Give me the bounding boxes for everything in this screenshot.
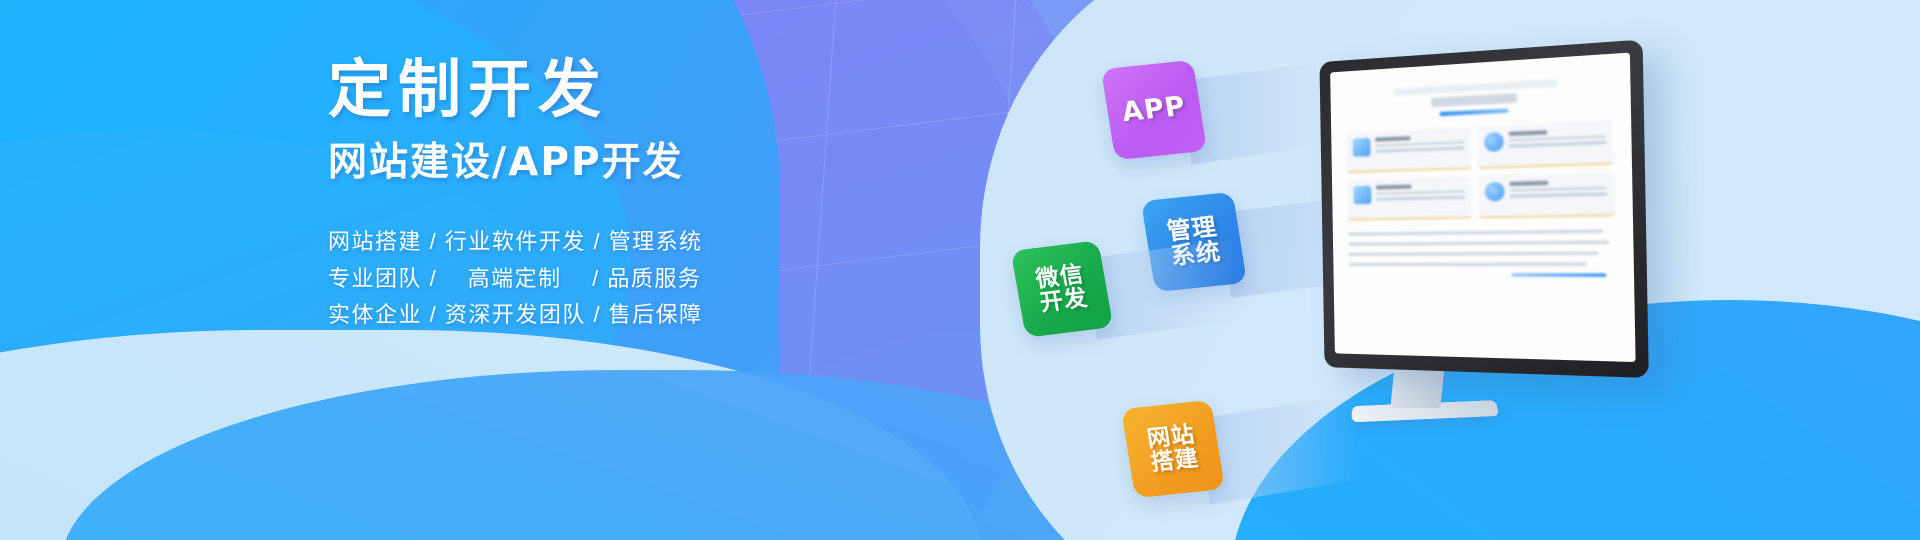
mockup-card <box>1347 127 1471 173</box>
screen-website-mockup <box>1330 53 1635 362</box>
service-card-wechat-development-line2: 开发 <box>1038 286 1090 316</box>
mockup-header-bar <box>1393 79 1558 96</box>
service-card-app[interactable]: APP <box>1101 60 1207 160</box>
service-card-wechat-development[interactable]: 微信 开发 <box>1011 240 1114 337</box>
mockup-card-text <box>1509 128 1607 160</box>
mockup-paragraph-accent <box>1511 273 1606 276</box>
service-card-website-building[interactable]: 网站 搭建 <box>1121 400 1225 498</box>
service-card-app-label: APP <box>1120 93 1188 128</box>
mockup-card-text <box>1510 179 1608 209</box>
feature-line-3: 实体企业 / 资深开发团队 / 售后保障 <box>328 297 888 334</box>
mockup-card-icon <box>1485 182 1505 202</box>
service-card-management-system-line2: 系统 <box>1169 239 1223 269</box>
feature-list: 网站搭建 / 行业软件开发 / 管理系统 专业团队 / 高端定制 / 品质服务 … <box>328 224 888 334</box>
mockup-card <box>1479 172 1615 218</box>
page-subtitle: 网站建设/APP开发 <box>328 143 888 182</box>
mockup-card-grid <box>1347 121 1615 221</box>
feature-line-1: 网站搭建 / 行业软件开发 / 管理系统 <box>328 224 888 261</box>
headline-block: 定制开发 网站建设/APP开发 网站搭建 / 行业软件开发 / 管理系统 专业团… <box>328 58 888 334</box>
mockup-card-text <box>1375 134 1464 164</box>
promo-banner: 定制开发 网站建设/APP开发 网站搭建 / 行业软件开发 / 管理系统 专业团… <box>0 0 1920 540</box>
mockup-card <box>1478 121 1614 169</box>
mockup-card <box>1347 177 1471 221</box>
monitor-screen <box>1330 53 1635 362</box>
feature-line-2: 专业团队 / 高端定制 / 品质服务 <box>328 261 888 298</box>
service-card-management-system[interactable]: 管理 系统 <box>1141 192 1247 292</box>
mockup-paragraph <box>1348 230 1615 277</box>
monitor-frame <box>1319 40 1648 378</box>
mockup-card-text <box>1376 183 1465 212</box>
mockup-title-underline <box>1440 108 1509 116</box>
mockup-card-icon <box>1353 186 1371 205</box>
service-card-website-building-line2: 搭建 <box>1149 446 1201 475</box>
mockup-card-icon <box>1353 138 1371 157</box>
mockup-section-title <box>1432 93 1517 107</box>
page-title: 定制开发 <box>328 58 888 121</box>
mockup-card-icon <box>1484 132 1504 152</box>
desktop-monitor <box>1319 40 1648 378</box>
